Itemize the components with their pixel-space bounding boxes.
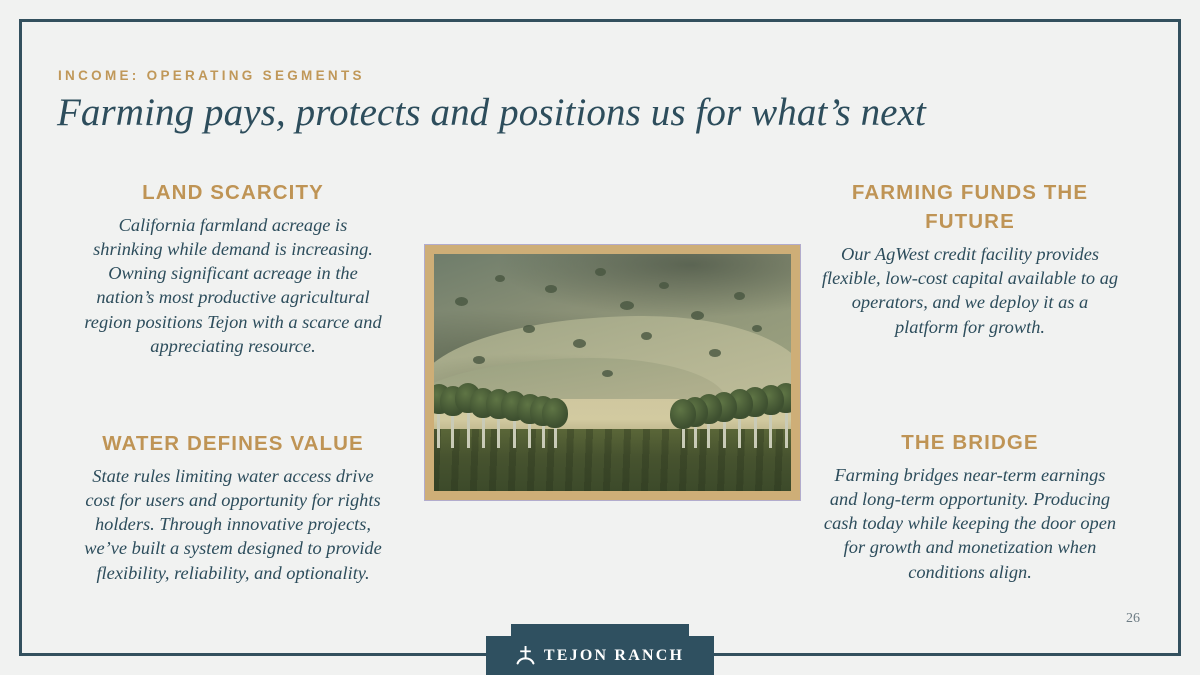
photo-orchard-tree (754, 397, 757, 448)
photo-orchard-tree (497, 401, 500, 448)
content-block-land-scarcity: LAND SCARCITY California farmland acreag… (83, 178, 383, 358)
photo-oak-tree (545, 285, 557, 293)
footer-wordmark: TEJON RANCH (544, 647, 684, 665)
block-body: California farmland acreage is shrinking… (83, 213, 383, 358)
photo-oak-tree (734, 292, 745, 300)
content-block-the-bridge: THE BRIDGE Farming bridges near-term ear… (820, 428, 1120, 584)
photo-orchard-tree (467, 391, 470, 448)
page-title: Farming pays, protects and positions us … (57, 90, 926, 135)
slide: INCOME: OPERATING SEGMENTS Farming pays,… (0, 0, 1200, 675)
orchard-photo-frame (425, 245, 800, 500)
photo-orchard-row-left (434, 354, 605, 449)
footer-logo-badge: TEJON RANCH (486, 624, 714, 675)
photo-orchard-tree (769, 394, 772, 448)
block-body: State rules limiting water access drive … (83, 464, 383, 585)
block-heading: WATER DEFINES VALUE (83, 429, 383, 458)
photo-oak-tree (455, 297, 468, 306)
oak-tree-icon (516, 644, 535, 668)
block-body: Farming bridges near-term earnings and l… (820, 463, 1120, 584)
block-heading: THE BRIDGE (820, 428, 1120, 457)
block-heading: FARMING FUNDS THE FUTURE (820, 178, 1120, 236)
content-block-water-defines-value: WATER DEFINES VALUE State rules limiting… (83, 429, 383, 585)
badge-body: TEJON RANCH (486, 636, 714, 675)
photo-orchard-tree (482, 399, 485, 448)
photo-orchard-tree (682, 417, 685, 448)
photo-orchard-tree (513, 405, 516, 449)
photo-orchard-tree (785, 391, 788, 448)
eyebrow-label: INCOME: OPERATING SEGMENTS (58, 68, 365, 83)
photo-oak-tree (595, 268, 606, 276)
photo-oak-tree (752, 325, 762, 332)
photo-orchard-tree (738, 401, 741, 448)
photo-orchard-tree (723, 406, 726, 449)
page-number: 26 (1126, 611, 1140, 627)
orchard-photo (434, 254, 791, 491)
photo-oak-tree (691, 311, 704, 320)
photo-orchard-tree (451, 396, 454, 448)
block-heading: LAND SCARCITY (83, 178, 383, 207)
photo-orchard-row-right (620, 354, 791, 449)
block-body: Our AgWest credit facility provides flex… (820, 242, 1120, 338)
photo-orchard-tree (554, 416, 557, 448)
content-block-farming-funds-the-future: FARMING FUNDS THE FUTURE Our AgWest cred… (820, 178, 1120, 339)
